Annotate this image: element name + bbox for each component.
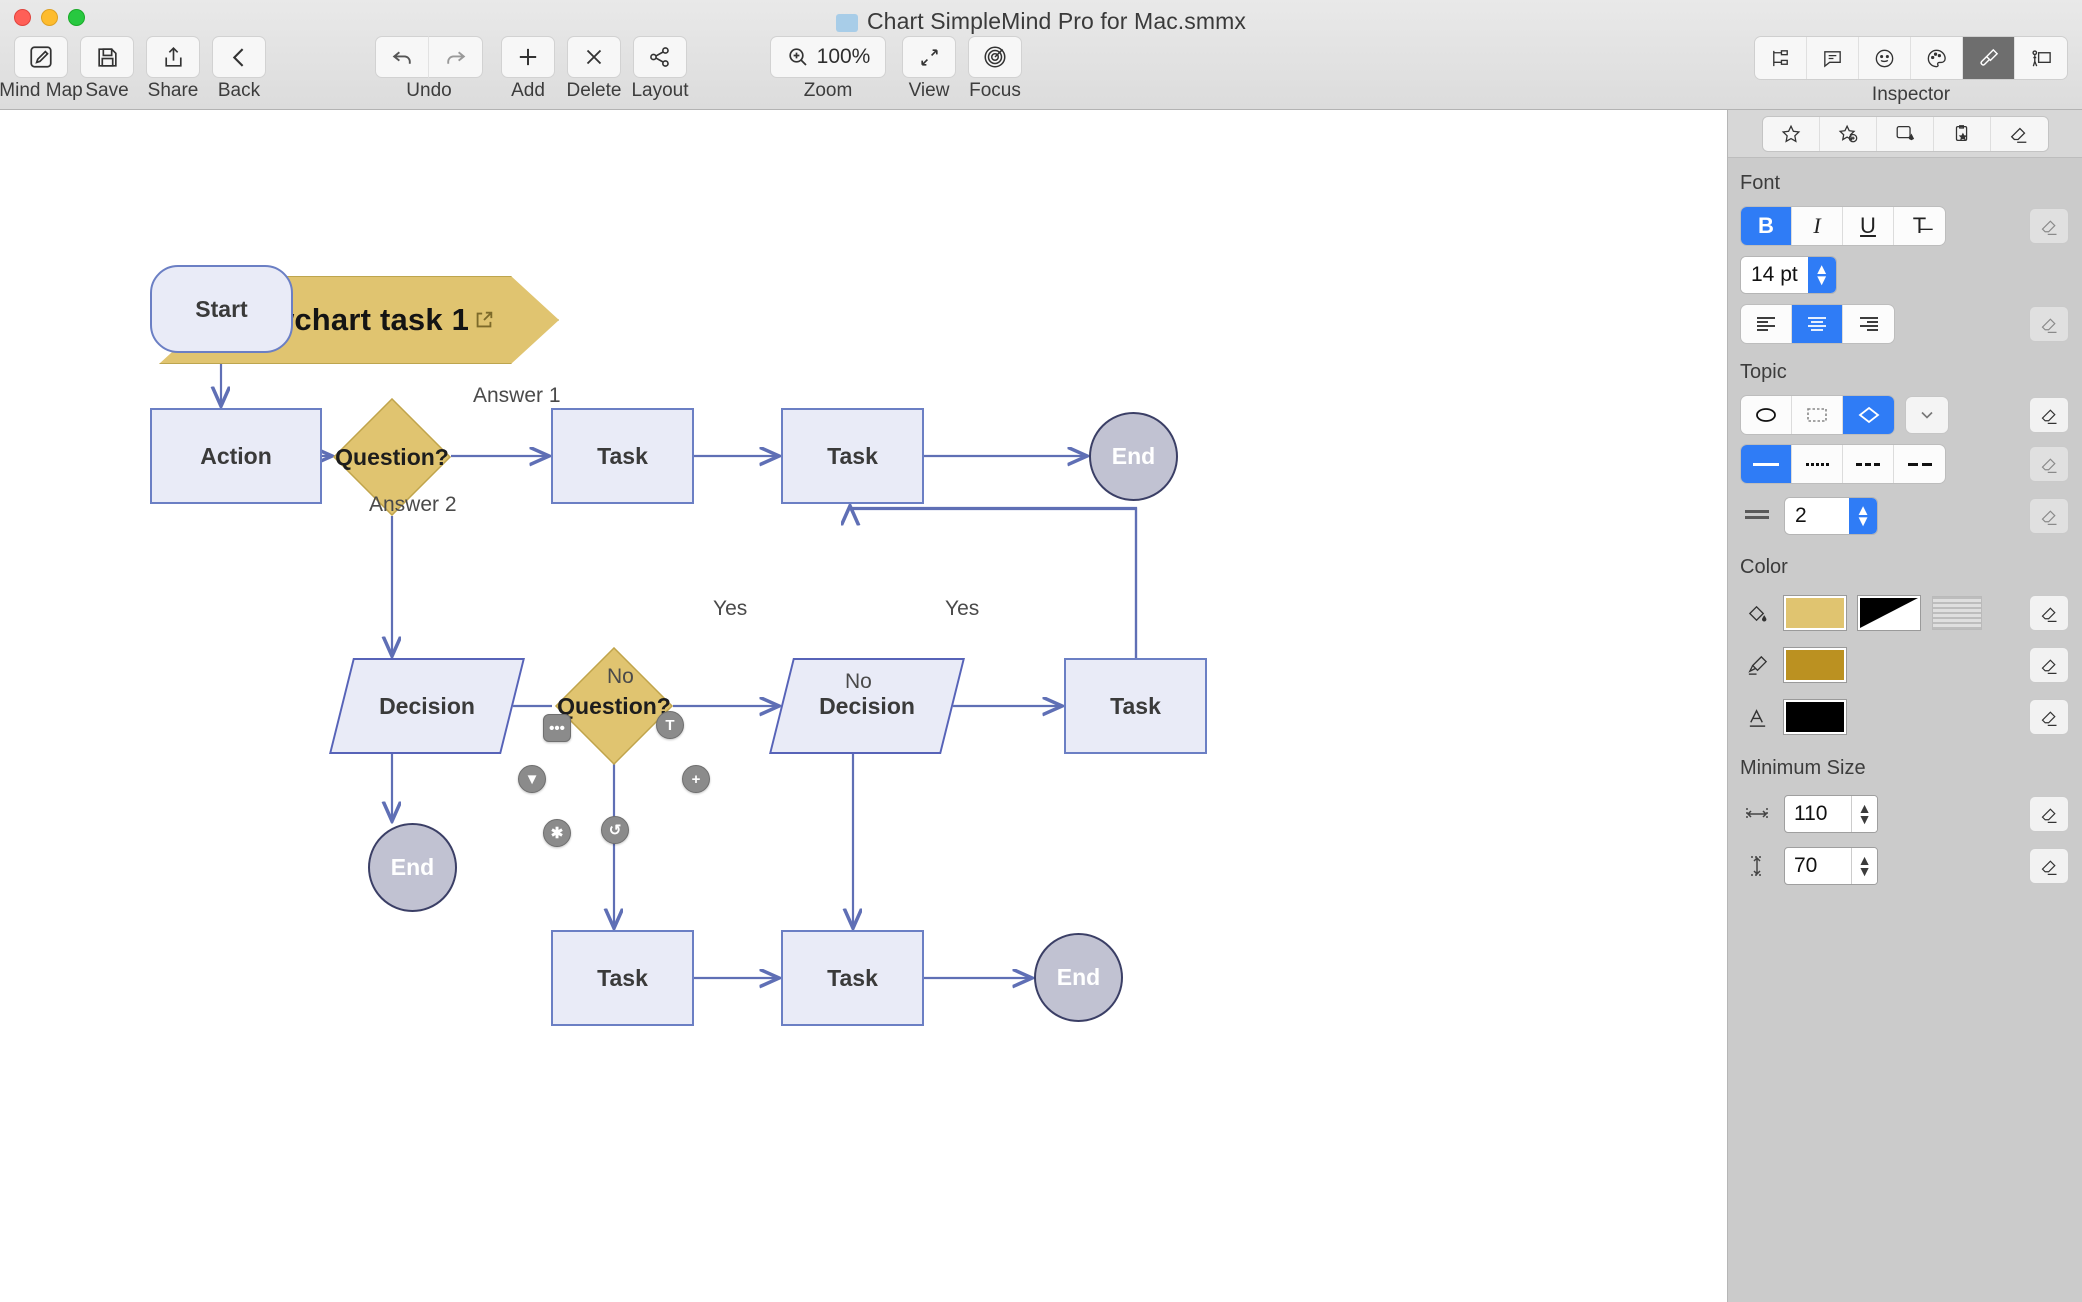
line-width-arrows[interactable]: ▲▼ [1849, 498, 1877, 534]
toolbar-mind-map-label: Mind Map [0, 80, 83, 102]
smiley-icon[interactable] [1859, 37, 1911, 79]
inspector-label: Inspector [1754, 84, 2068, 106]
font-section-title: Font [1728, 158, 2082, 203]
height-arrows-icon [1740, 855, 1774, 877]
clear-border-color-button[interactable] [2029, 647, 2069, 683]
plus-icon[interactable] [501, 36, 555, 78]
font-style-segmented[interactable]: B I U T̶ [1740, 206, 1946, 246]
node-action[interactable]: Action [150, 408, 322, 504]
fill-color-swatch[interactable] [1784, 596, 1846, 630]
mindmap-canvas[interactable]: Flowchart task 1 Start Action Question? … [0, 110, 1727, 1302]
target-icon[interactable] [968, 36, 1022, 78]
node-action-label: Action [200, 443, 272, 470]
floppy-disk-icon[interactable] [80, 36, 134, 78]
inspector-panel-toolbar [1728, 110, 2082, 158]
min-height-field[interactable]: 70 ▲▼ [1784, 847, 1878, 885]
min-height-value[interactable]: 70 [1785, 848, 1851, 884]
node-end-3-label: End [1057, 964, 1100, 991]
font-size-arrows[interactable]: ▲▼ [1808, 257, 1836, 293]
dashed-line-icon[interactable] [1843, 445, 1894, 483]
toolbar-view[interactable]: View [902, 36, 956, 78]
star-add-icon[interactable] [1820, 117, 1877, 151]
zoom-value: 100% [817, 45, 871, 69]
document-title-bar: Chart SimpleMind Pro for Mac.smmx [0, 8, 2082, 35]
clear-line-width-button[interactable] [2029, 498, 2069, 534]
clear-text-align-button[interactable] [2029, 306, 2069, 342]
toolbar-mind-map[interactable]: Mind Map [14, 36, 68, 78]
long-dash-line-icon[interactable] [1894, 445, 1945, 483]
toolbar-share[interactable]: Share [146, 36, 200, 78]
minimum-size-section-title: Minimum Size [1728, 743, 2082, 788]
toolbar-save[interactable]: Save [80, 36, 134, 78]
redo-arrow-icon[interactable] [429, 36, 483, 78]
x-icon[interactable] [567, 36, 621, 78]
node-end-3[interactable]: End [1034, 933, 1123, 1022]
text-color-swatch[interactable] [1784, 700, 1846, 734]
node-end-1[interactable]: End [1089, 412, 1178, 501]
text-align-segmented[interactable] [1740, 304, 1895, 344]
paint-bucket-icon [1740, 602, 1774, 625]
style-buttons-group[interactable] [1762, 116, 2049, 152]
dashed-rect-shape-icon[interactable] [1792, 396, 1843, 434]
node-task-2[interactable]: Task [781, 408, 924, 504]
line-weight-icon [1740, 507, 1774, 525]
letter-a-icon [1740, 706, 1774, 729]
bold-button[interactable]: B [1741, 207, 1792, 245]
node-decision-1-label: Decision [341, 658, 513, 754]
font-style-row: B I U T̶ [1728, 203, 2082, 249]
clear-fill-color-button[interactable] [2029, 595, 2069, 631]
zoom-button[interactable]: 100% [770, 36, 886, 78]
font-size-stepper[interactable]: 14 pt ▲▼ [1740, 256, 1837, 294]
toolbar-zoom-label: Zoom [804, 80, 853, 102]
toolbar-delete[interactable]: Delete [567, 36, 621, 78]
node-end-2-label: End [391, 854, 434, 881]
line-style-segmented[interactable] [1740, 444, 1946, 484]
node-task-3-label: Task [1110, 693, 1161, 720]
collapse-handle[interactable]: ▼ [518, 765, 546, 793]
layout-nodes-icon[interactable] [633, 36, 687, 78]
strikethrough-button[interactable]: T̶ [1894, 207, 1945, 245]
toolbar-delete-label: Delete [567, 80, 622, 102]
line-width-stepper[interactable]: 2 ▲▼ [1784, 497, 1878, 535]
inspector-toolbar-group: Inspector [1754, 36, 2068, 106]
line-width-value[interactable]: 2 [1785, 498, 1849, 534]
clear-topic-shape-button[interactable] [2029, 397, 2069, 433]
star-outline-icon[interactable] [1763, 117, 1820, 151]
fill-color-row [1728, 587, 2082, 639]
presenter-icon[interactable] [2015, 37, 2067, 79]
color-section-title: Color [1728, 542, 2082, 587]
toolbar-undo-redo[interactable]: Undo [375, 36, 483, 78]
node-end-1-label: End [1112, 443, 1155, 470]
toolbar-left-group: Mind Map Save Share Back [14, 36, 278, 78]
width-arrows-icon [1740, 804, 1774, 824]
topic-shape-segmented[interactable] [1740, 395, 1895, 435]
border-color-row [1728, 639, 2082, 691]
align-left-icon[interactable] [1741, 305, 1792, 343]
toolbar-edit-group: Undo Add Delete Layout [375, 36, 699, 78]
gradient-swatch-icon[interactable] [1858, 596, 1920, 630]
chevron-left-icon[interactable] [212, 36, 266, 78]
clear-font-style-button[interactable] [2029, 208, 2069, 244]
toolbar-back[interactable]: Back [212, 36, 266, 78]
edge-label-no-2: No [845, 670, 872, 694]
align-center-icon[interactable] [1792, 305, 1843, 343]
document-title: Chart SimpleMind Pro for Mac.smmx [867, 8, 1246, 34]
clear-line-style-button[interactable] [2029, 446, 2069, 482]
toolbar-back-label: Back [218, 80, 260, 102]
apply-style-icon[interactable] [1877, 117, 1934, 151]
clear-text-color-button[interactable] [2029, 699, 2069, 735]
min-height-arrows[interactable]: ▲▼ [1851, 848, 1877, 884]
min-width-row: 110 ▲▼ [1728, 788, 2082, 840]
dotted-line-icon[interactable] [1792, 445, 1843, 483]
toolbar-zoom[interactable]: 100% Zoom [770, 36, 886, 78]
toolbar-layout[interactable]: Layout [633, 36, 687, 78]
toolbar-add-label: Add [511, 80, 545, 102]
edge-label-yes-1: Yes [713, 597, 747, 621]
node-task-1[interactable]: Task [551, 408, 694, 504]
clipboard-star-icon[interactable] [1934, 117, 1991, 151]
underline-button[interactable]: U [1843, 207, 1894, 245]
clear-min-height-button[interactable] [2029, 848, 2069, 884]
text-align-row [1728, 301, 2082, 347]
checkbox-handle[interactable]: ✱ [543, 819, 571, 847]
topic-shape-row [1728, 392, 2082, 438]
pattern-swatch-icon[interactable] [1932, 596, 1982, 630]
text-color-row [1728, 691, 2082, 743]
node-decision-1[interactable]: Decision [341, 658, 513, 754]
italic-button[interactable]: I [1792, 207, 1843, 245]
title-bar: Chart SimpleMind Pro for Mac.smmx Mind M… [0, 0, 2082, 110]
eraser-icon[interactable] [1991, 117, 2048, 151]
font-size-value[interactable]: 14 pt [1741, 257, 1808, 293]
toolbar-view-label: View [909, 80, 950, 102]
clear-min-width-button[interactable] [2029, 796, 2069, 832]
toolbar-undo-label: Undo [406, 80, 451, 102]
toolbar-save-label: Save [85, 80, 128, 102]
note-bubble-icon[interactable] [1807, 37, 1859, 79]
node-start-label: Start [195, 296, 247, 323]
chevron-down-icon[interactable] [1905, 396, 1949, 434]
add-child-handle[interactable]: + [682, 765, 710, 793]
min-height-row: 70 ▲▼ [1728, 840, 2082, 892]
more-options-handle[interactable]: ••• [543, 714, 571, 742]
marker-pen-icon [1740, 654, 1774, 677]
edge-label-answer-2: Answer 2 [369, 493, 457, 517]
outline-tree-icon[interactable] [1755, 37, 1807, 79]
reorder-handle[interactable]: ↺ [601, 816, 629, 844]
expand-diagonal-icon[interactable] [902, 36, 956, 78]
toolbar-focus[interactable]: Focus [968, 36, 1022, 78]
edge-label-yes-2: Yes [945, 597, 979, 621]
line-style-row [1728, 438, 2082, 490]
solid-line-icon[interactable] [1741, 445, 1792, 483]
simplemind-window: Chart SimpleMind Pro for Mac.smmx Mind M… [0, 0, 2082, 1302]
share-up-arrow-icon[interactable] [146, 36, 200, 78]
node-task-2-label: Task [827, 443, 878, 470]
toolbar-add[interactable]: Add [501, 36, 555, 78]
paintbrush-icon[interactable] [1963, 37, 2015, 79]
node-task-4-label: Task [597, 965, 648, 992]
font-size-row: 14 pt ▲▼ [1728, 249, 2082, 301]
document-icon [836, 14, 858, 32]
align-right-icon[interactable] [1843, 305, 1894, 343]
external-link-icon[interactable] [473, 309, 495, 331]
node-start[interactable]: Start [150, 265, 293, 353]
min-width-value[interactable]: 110 [1785, 796, 1851, 832]
border-color-swatch[interactable] [1784, 648, 1846, 682]
inspector-panel: Font B I U T̶ 14 pt ▲▼ [1727, 110, 2082, 1302]
node-end-2[interactable]: End [368, 823, 457, 912]
node-task-1-label: Task [597, 443, 648, 470]
inspector-segmented-control[interactable] [1754, 36, 2068, 80]
node-task-5-label: Task [827, 965, 878, 992]
node-task-3[interactable]: Task [1064, 658, 1207, 754]
min-width-arrows[interactable]: ▲▼ [1851, 796, 1877, 832]
toolbar-share-label: Share [148, 80, 199, 102]
palette-icon[interactable] [1911, 37, 1963, 79]
toolbar-focus-label: Focus [969, 80, 1021, 102]
text-handle[interactable]: T [656, 711, 684, 739]
edge-label-no-1: No [607, 665, 634, 689]
node-task-5[interactable]: Task [781, 930, 924, 1026]
line-width-row: 2 ▲▼ [1728, 490, 2082, 542]
min-width-field[interactable]: 110 ▲▼ [1784, 795, 1878, 833]
toolbar-view-group: 100% Zoom View Focus [770, 36, 1034, 78]
ellipse-shape-icon[interactable] [1741, 396, 1792, 434]
magnifier-plus-icon [786, 45, 810, 69]
node-task-4[interactable]: Task [551, 930, 694, 1026]
compose-icon[interactable] [14, 36, 68, 78]
diamond-shape-icon[interactable] [1843, 396, 1894, 434]
toolbar-layout-label: Layout [631, 80, 688, 102]
edge-label-answer-1: Answer 1 [473, 384, 561, 408]
topic-section-title: Topic [1728, 347, 2082, 392]
undo-arrow-icon[interactable] [375, 36, 429, 78]
